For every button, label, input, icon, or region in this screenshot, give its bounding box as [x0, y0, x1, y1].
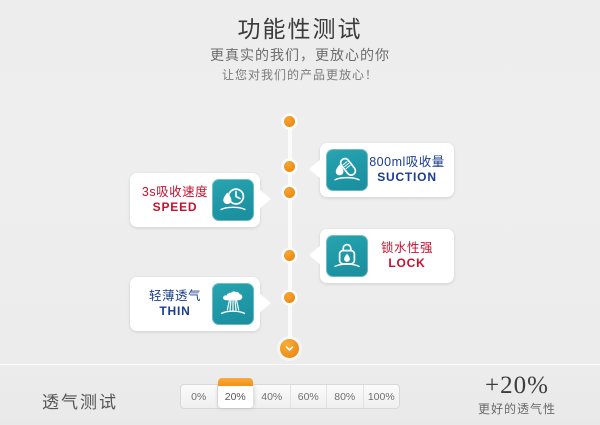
timeline-dot-3: [284, 187, 295, 198]
feature-card-suction-en: SUCTION: [368, 171, 446, 185]
padlock-drop-icon: [326, 235, 368, 277]
feature-card-thin-en: THIN: [138, 305, 212, 319]
scale-option-20[interactable]: 20%: [218, 385, 255, 408]
chevron-down-icon: [280, 339, 299, 358]
feature-card-thin-cn: 轻薄透气: [138, 289, 212, 303]
clock-drop-icon: [212, 179, 254, 221]
test-tube-drop-icon: [326, 149, 368, 191]
feature-card-speed-text: 3s吸收速度 SPEED: [138, 185, 212, 214]
scale-option-80[interactable]: 80%: [327, 385, 364, 408]
page-subtitle-secondary: 让您对我们的产品更放心！: [0, 66, 600, 85]
feature-card-lock[interactable]: 锁水性强 LOCK: [320, 229, 454, 283]
feature-card-suction-text: 800ml吸收量 SUCTION: [368, 155, 446, 184]
timeline-dot-1: [284, 116, 295, 127]
scale-option-40[interactable]: 40%: [254, 385, 291, 408]
tree-airflow-icon: [212, 283, 254, 325]
feature-card-speed[interactable]: 3s吸收速度 SPEED: [130, 173, 260, 227]
breathability-test-label: 透气测试: [42, 388, 118, 413]
speech-tail: [259, 293, 271, 313]
timeline-track: [288, 118, 292, 346]
result-value: +20%: [452, 372, 582, 400]
feature-card-speed-cn: 3s吸收速度: [138, 185, 212, 199]
page-title: 功能性测试: [0, 14, 600, 44]
feature-card-speed-en: SPEED: [138, 201, 212, 215]
breathability-result: +20% 更好的透气性: [452, 372, 582, 418]
page-subtitle-primary: 更真实的我们，更放心的你: [0, 44, 600, 66]
feature-card-lock-text: 锁水性强 LOCK: [368, 241, 446, 270]
feature-card-suction-cn: 800ml吸收量: [368, 155, 446, 169]
page-header: 功能性测试 更真实的我们，更放心的你 让您对我们的产品更放心！: [0, 14, 600, 85]
feature-card-suction[interactable]: 800ml吸收量 SUCTION: [320, 143, 454, 197]
scale-option-0[interactable]: 0%: [181, 385, 218, 408]
timeline-dot-4: [284, 250, 295, 261]
breathability-scale[interactable]: 0% 20% 40% 60% 80% 100%: [180, 384, 400, 409]
feature-card-thin[interactable]: 轻薄透气 THIN: [130, 277, 260, 331]
scale-option-60[interactable]: 60%: [291, 385, 328, 408]
feature-card-thin-text: 轻薄透气 THIN: [138, 289, 212, 318]
timeline-dot-5: [284, 292, 295, 303]
result-caption: 更好的透气性: [452, 400, 582, 418]
functional-test-infographic: 功能性测试 更真实的我们，更放心的你 让您对我们的产品更放心！ 3s吸收速度 S…: [0, 0, 600, 425]
timeline-end-cap: [277, 336, 302, 361]
speech-tail: [309, 159, 321, 179]
speech-tail: [259, 189, 271, 209]
speech-tail: [309, 245, 321, 265]
section-divider: [0, 364, 600, 365]
feature-card-lock-en: LOCK: [368, 257, 446, 271]
scale-option-100[interactable]: 100%: [364, 385, 400, 408]
timeline-dot-2: [284, 161, 295, 172]
feature-card-lock-cn: 锁水性强: [368, 241, 446, 255]
